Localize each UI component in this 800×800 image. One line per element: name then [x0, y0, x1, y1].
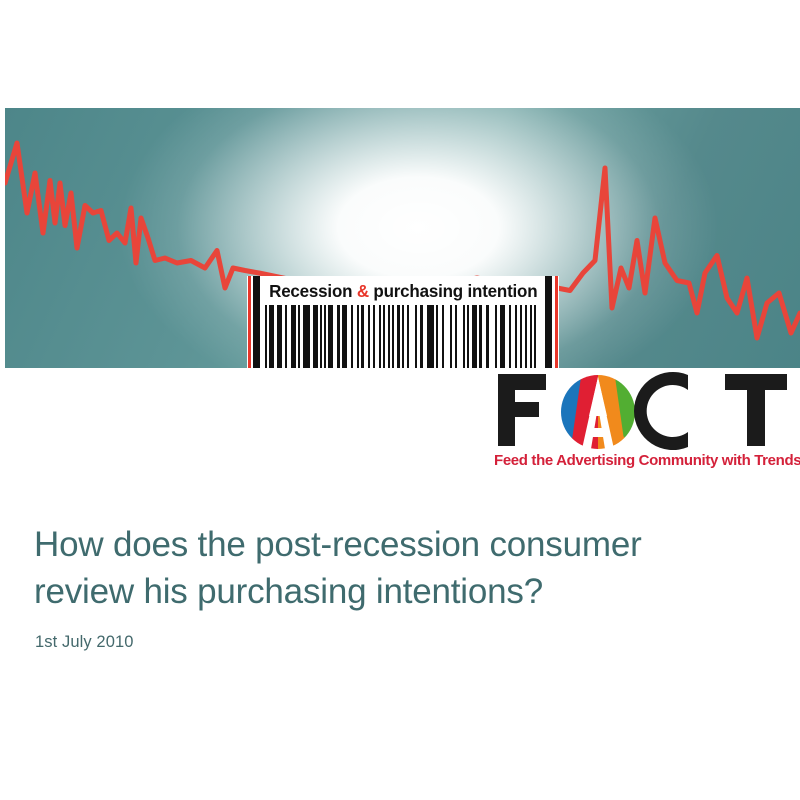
barcode-title-ampersand: & [357, 281, 369, 301]
barcode-bar [520, 305, 522, 368]
barcode-bar [463, 305, 465, 368]
logo-letter-f [498, 374, 546, 446]
barcode-bar [379, 305, 381, 368]
barcode-bar [486, 305, 489, 368]
barcode-bar [525, 305, 527, 368]
barcode-bar [534, 305, 536, 368]
barcode-bar [420, 305, 423, 368]
barcode-bar [324, 305, 326, 368]
barcode-bar [303, 305, 310, 368]
barcode-bar [467, 305, 469, 368]
barcode-bar [407, 305, 409, 368]
barcode-guard-bar-left [253, 276, 260, 368]
logo-letter-a-colorwheel [556, 370, 642, 450]
page-title-line-2: review his purchasing intentions? [34, 572, 543, 611]
barcode-bar [392, 305, 394, 368]
recession-banner: Recession & purchasing intention [5, 108, 800, 368]
fact-wordmark [492, 370, 792, 450]
barcode-bar [479, 305, 482, 368]
barcode-bar [530, 305, 532, 368]
logo-letter-c [634, 372, 688, 450]
barcode-bar [368, 305, 370, 368]
barcode-guard-bar-right [545, 276, 552, 368]
barcode-bar [320, 305, 322, 368]
barcode-red-edge-right [555, 276, 558, 368]
barcode-bar [500, 305, 505, 368]
barcode-bar [402, 305, 404, 368]
barcode-bar [277, 305, 282, 368]
headline-block: How does the post-recession consumerrevi… [34, 521, 754, 652]
barcode-bar [291, 305, 296, 368]
barcode-title: Recession & purchasing intention [269, 279, 536, 303]
page-title-line-1: How does the post-recession consumer [34, 525, 642, 564]
barcode-bar [436, 305, 438, 368]
barcode-bar [285, 305, 287, 368]
barcode-bar [269, 305, 274, 368]
barcode-bar [495, 305, 497, 368]
barcode-title-prefix: Recession [269, 281, 357, 301]
barcode-title-suffix: purchasing intention [369, 281, 538, 301]
publication-date: 1st July 2010 [35, 632, 754, 652]
barcode-bar [265, 305, 267, 368]
barcode-bar [397, 305, 400, 368]
barcode-bar [373, 305, 375, 368]
barcode-bar [450, 305, 452, 368]
barcode-bar [388, 305, 390, 368]
barcode-bars [265, 305, 540, 368]
fact-logo: Feed the Advertising Community with Tren… [492, 370, 792, 478]
barcode-bar [427, 305, 434, 368]
barcode-bar [342, 305, 347, 368]
barcode-bar [351, 305, 353, 368]
barcode-bar [328, 305, 333, 368]
page-title: How does the post-recession consumerrevi… [34, 521, 754, 615]
barcode-bar [442, 305, 444, 368]
slide-root: Recession & purchasing intention [0, 0, 800, 800]
barcode-bar [455, 305, 457, 368]
barcode-bar [515, 305, 517, 368]
barcode-bar [383, 305, 385, 368]
barcode-bar [298, 305, 300, 368]
barcode-bar [361, 305, 364, 368]
barcode-graphic: Recession & purchasing intention [247, 276, 559, 368]
fact-tagline: Feed the Advertising Community with Tren… [494, 452, 792, 469]
barcode-bar [472, 305, 477, 368]
barcode-bar [337, 305, 340, 368]
barcode-bar [415, 305, 417, 368]
barcode-bar [313, 305, 318, 368]
barcode-bar [357, 305, 359, 368]
barcode-red-edge-left [248, 276, 251, 368]
logo-letter-t [725, 374, 787, 446]
barcode-bar [509, 305, 511, 368]
